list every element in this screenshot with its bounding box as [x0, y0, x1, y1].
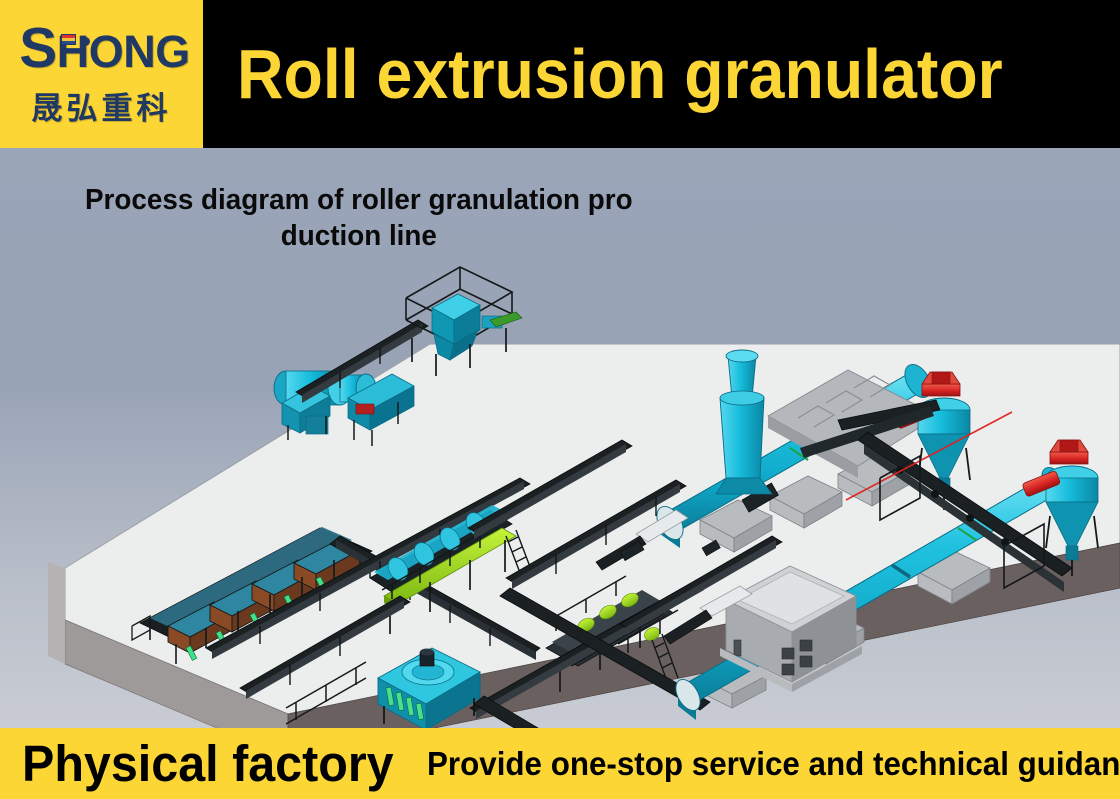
caption-line-1: Process diagram of roller granulation pr…: [85, 184, 633, 216]
logo-letters-hong: HONG: [57, 26, 190, 77]
logo-letter-s: S: [19, 16, 57, 80]
footer-subtext: Provide one-stop service and technical g…: [427, 747, 1120, 780]
logo-chinese-name: 晟弘重科: [32, 83, 172, 128]
header-title-container: Roll extrusion granulator: [203, 0, 1120, 148]
process-diagram-scene: Process diagram of roller granulation pr…: [0, 148, 1120, 728]
footer-headline: Physical factory: [22, 738, 394, 789]
logo-wordmark: SHONG: [19, 20, 190, 77]
flag-icon: [61, 34, 76, 45]
diagram-caption: Process diagram of roller granulation pr…: [42, 182, 676, 255]
footer-bar: Physical factory Provide one-stop servic…: [0, 728, 1120, 799]
caption-line-2: duction line: [281, 220, 437, 252]
company-logo: SHONG 晟弘重科: [0, 0, 203, 148]
header-bar: SHONG 晟弘重科 Roll extrusion granulator: [0, 0, 1120, 148]
page-title: Roll extrusion granulator: [237, 39, 1003, 109]
poster-page: SHONG 晟弘重科 Roll extrusion granulator Pro…: [0, 0, 1120, 799]
